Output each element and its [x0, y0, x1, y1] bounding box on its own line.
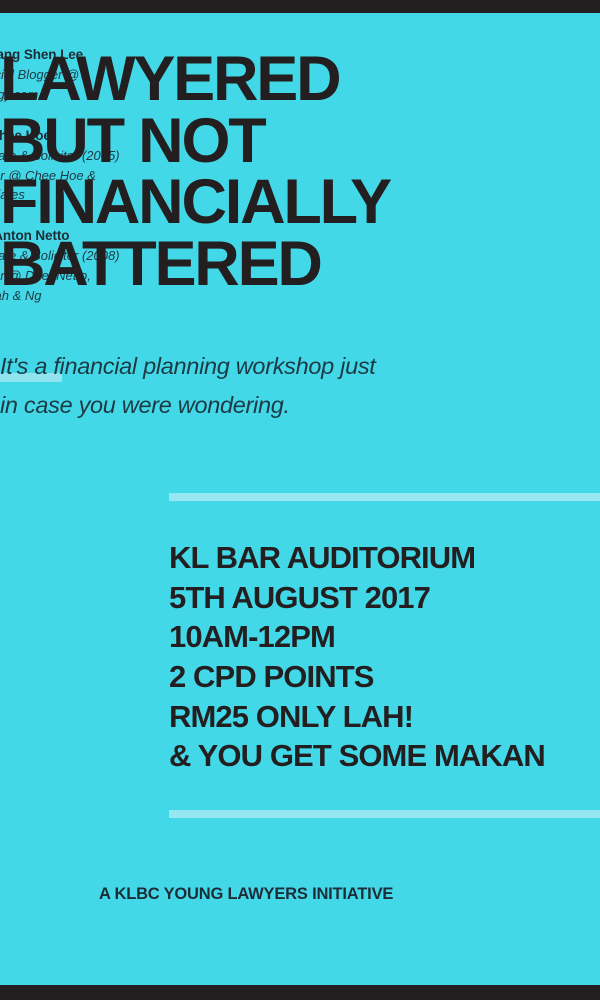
bottom-frame-bar [0, 985, 600, 1000]
event-details: KL BAR AUDITORIUM 5TH AUGUST 2017 10AM-1… [169, 538, 600, 776]
page-title: LAWYERED BUT NOT FINANCIALLY BATTERED [0, 49, 470, 296]
upper-divider-rule [169, 493, 600, 501]
top-frame-bar [0, 0, 600, 13]
event-poster: Jon Tang Shen Lee Financial Blogger @ mr… [0, 0, 600, 1000]
page-subtitle: It's a financial planning workshop just … [0, 347, 460, 425]
organizer-credit: A KLBC YOUNG LAWYERS INITIATIVE [99, 885, 393, 904]
lower-divider-rule [169, 810, 600, 818]
